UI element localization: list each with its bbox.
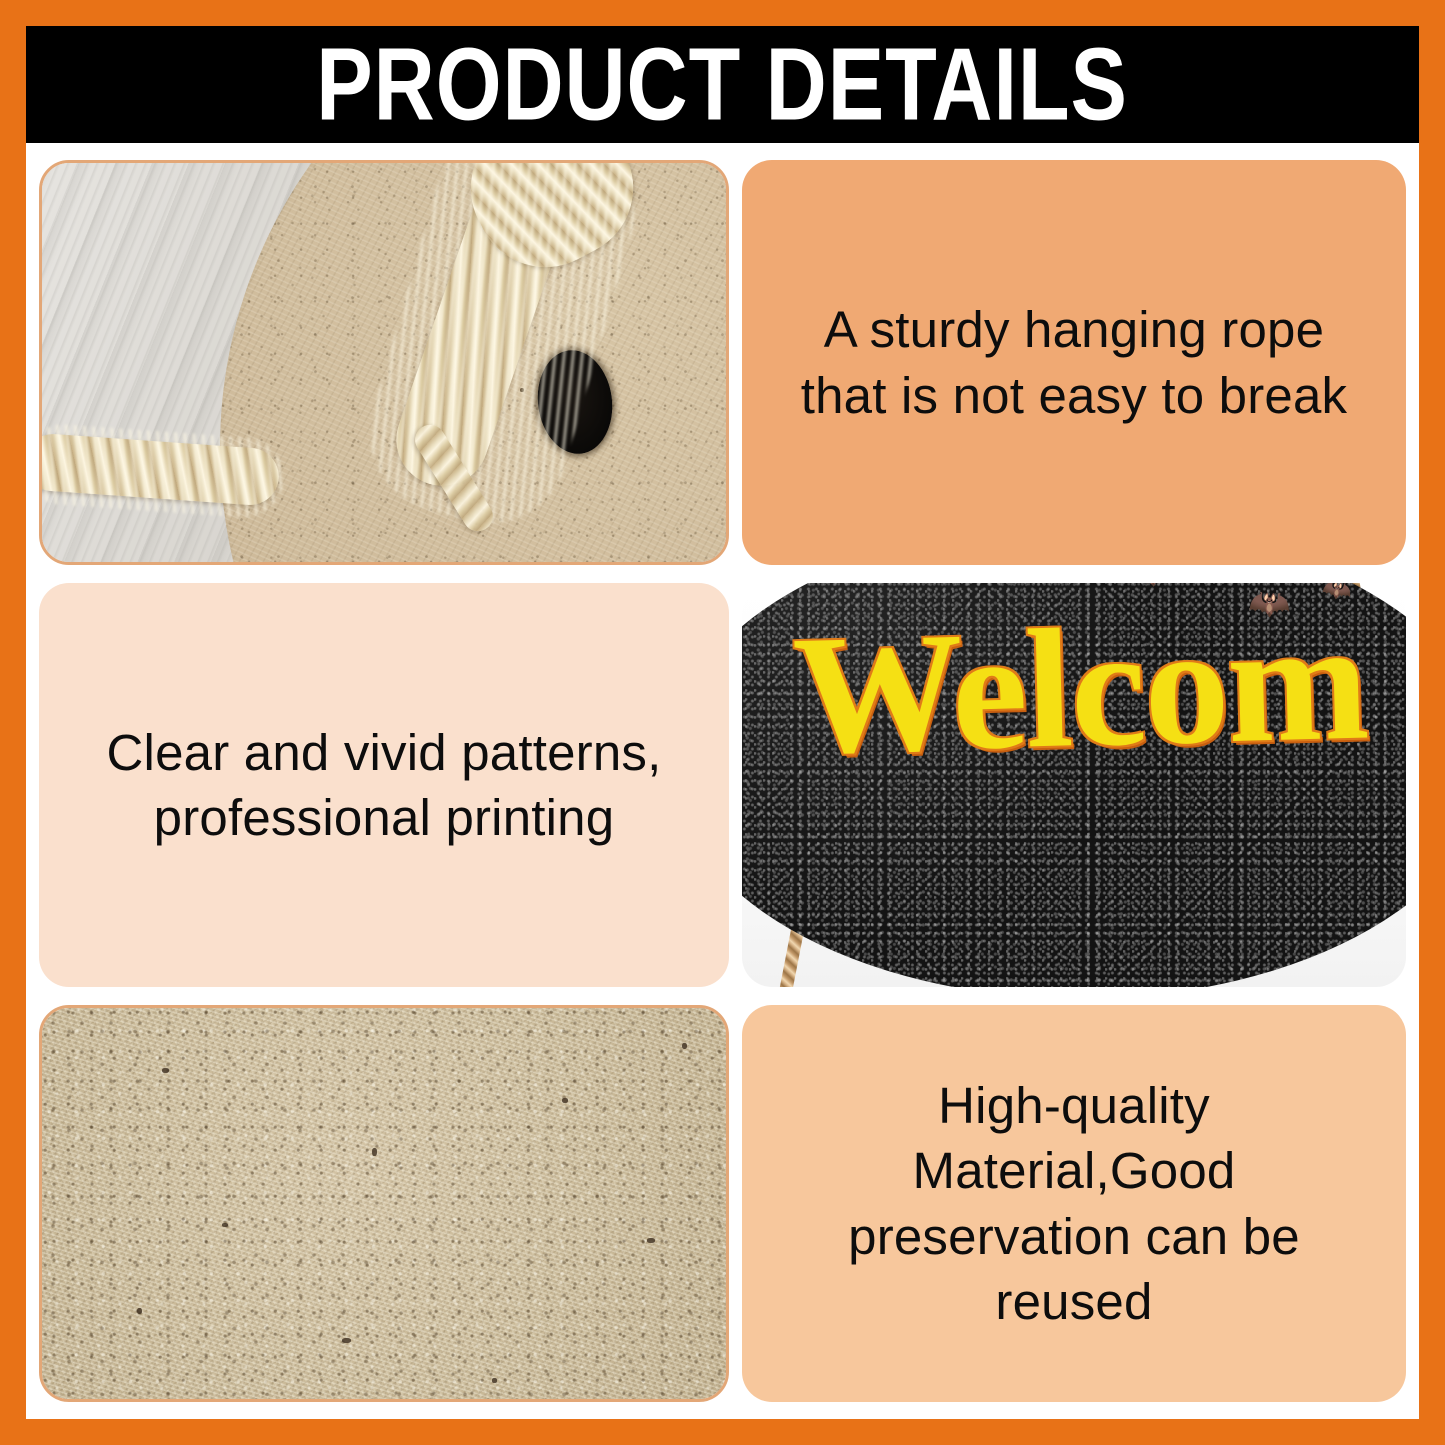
- bat-icon: 🦇: [1320, 583, 1353, 605]
- feature-photo-printing: Welcom 🦇 🦇 🦇: [742, 583, 1406, 987]
- header-bar: PRODUCT DETAILS: [26, 26, 1419, 143]
- feature-text-hanging-rope: A sturdy hanging rope that is not easy t…: [742, 160, 1406, 565]
- page-title: PRODUCT DETAILS: [317, 33, 1129, 136]
- feature-photo-hanging-rope: [39, 160, 729, 565]
- feature-caption: Clear and vivid patterns, professional p…: [107, 720, 662, 851]
- caption-line-2: preservation can be reused: [848, 1208, 1300, 1330]
- feature-text-printing: Clear and vivid patterns, professional p…: [39, 583, 729, 987]
- feature-caption: High-quality Material,Good preservation …: [776, 1073, 1372, 1334]
- sign-plaque-wrapper: Welcom 🦇 🦇 🦇: [742, 611, 1406, 971]
- feature-caption: A sturdy hanging rope that is not easy t…: [801, 297, 1347, 428]
- feature-text-material: High-quality Material,Good preservation …: [742, 1005, 1406, 1402]
- rope-through-hole-photo: [42, 163, 726, 562]
- sign-plaque: Welcom 🦇 🦇 🦇: [742, 583, 1406, 987]
- caption-line-1: A sturdy hanging rope: [824, 301, 1324, 358]
- welcome-sign-photo: Welcom 🦇 🦇 🦇: [742, 583, 1406, 987]
- caption-line-1: Clear and vivid patterns,: [107, 724, 662, 781]
- caption-line-1: High-quality Material,Good: [913, 1077, 1236, 1199]
- caption-line-2: that is not easy to break: [801, 367, 1347, 424]
- content-panel: A sturdy hanging rope that is not easy t…: [26, 143, 1419, 1419]
- material-texture-photo: [42, 1008, 726, 1399]
- product-details-infographic: PRODUCT DETAILS: [0, 0, 1445, 1445]
- caption-line-2: professional printing: [154, 789, 615, 846]
- bat-icon: 🦇: [1135, 583, 1170, 591]
- bat-icon: 🦇: [1248, 587, 1290, 621]
- grit-texture-layer: [42, 1008, 726, 1399]
- feature-photo-material: [39, 1005, 729, 1402]
- sign-welcome-text: Welcom: [742, 593, 1406, 783]
